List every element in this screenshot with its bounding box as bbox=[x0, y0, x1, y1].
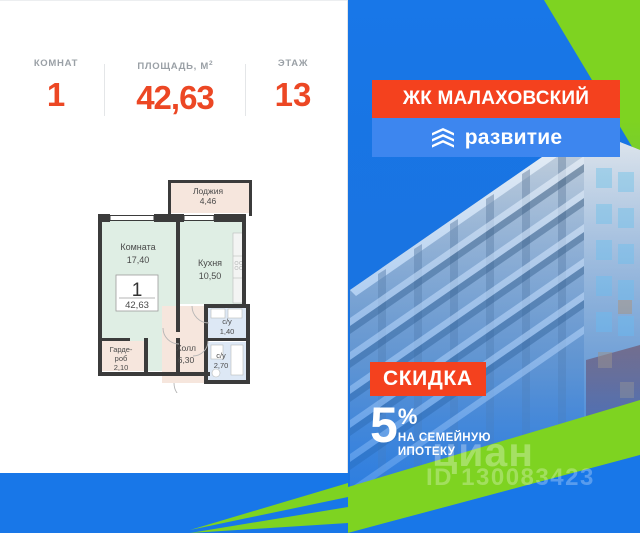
promo-title: СКИДКА bbox=[370, 362, 486, 396]
wall-loggia-right bbox=[249, 180, 252, 216]
wall-right-upper bbox=[242, 214, 246, 304]
stat-floor-label: ЭТАЖ bbox=[278, 58, 308, 70]
floorplan-svg: 1 42,63 Лоджия 4,46 Комната 17,40 Кухня … bbox=[88, 178, 288, 393]
kitchen-label: Кухня bbox=[198, 258, 222, 268]
brand-block: ЖК МАЛАХОВСКИЙ развитие bbox=[372, 80, 620, 157]
promo-panel: циан ID 130083423 ЖК МАЛАХОВСКИЙ развити… bbox=[348, 0, 640, 533]
floorplan-badge: 1 42,63 bbox=[116, 275, 158, 311]
wall-room-hall bbox=[176, 306, 180, 332]
bottom-blue-strip bbox=[0, 473, 348, 533]
promo-value-row: 5 % НА СЕМЕЙНУЮ ИПОТЕКУ bbox=[370, 404, 560, 459]
bathroom-2-area: 2,70 bbox=[214, 361, 229, 370]
stat-rooms-value: 1 bbox=[47, 78, 65, 111]
promo-subtitle: НА СЕМЕЙНУЮ ИПОТЕКУ bbox=[398, 432, 491, 459]
room-label: Комната bbox=[120, 242, 155, 252]
window-room bbox=[110, 216, 154, 221]
stat-area-label-text: ПЛОЩАДЬ, М bbox=[137, 61, 209, 72]
bottom-green-rays bbox=[0, 473, 348, 533]
stat-rooms-label: КОМНАТ bbox=[34, 58, 78, 70]
stats-header: КОМНАТ 1 ПЛОЩАДЬ, М2 42,63 ЭТАЖ 13 bbox=[0, 58, 348, 130]
wall-bath-mid bbox=[204, 338, 248, 341]
bathroom-1-label: с/у bbox=[222, 317, 232, 326]
hall-area: 6,30 bbox=[178, 355, 195, 365]
wardrobe-label-2: роб bbox=[115, 354, 128, 363]
wall-loggia-left bbox=[168, 180, 171, 216]
wardrobe-label-1: Гарде- bbox=[110, 345, 133, 354]
wardrobe-area: 2,10 bbox=[114, 363, 129, 372]
kitchen-area: 10,50 bbox=[199, 271, 222, 281]
wall-bath-top bbox=[204, 304, 248, 308]
promo-subtitle-line1: НА СЕМЕЙНУЮ bbox=[398, 432, 491, 446]
hall-label: Холл bbox=[176, 343, 196, 353]
loggia-area: 4,46 bbox=[200, 196, 217, 206]
promo-number: 5 bbox=[370, 404, 396, 447]
stat-rooms: КОМНАТ 1 bbox=[8, 58, 104, 111]
wall-loggia-top bbox=[168, 180, 252, 183]
developer-name: развитие bbox=[465, 127, 563, 148]
badge-area: 42,63 bbox=[125, 300, 149, 311]
developer-banner: развитие bbox=[372, 118, 620, 157]
wall-room-kitchen bbox=[176, 218, 180, 306]
wall-wardrobe-top bbox=[102, 338, 130, 341]
chevron-up-logo-icon bbox=[430, 126, 456, 148]
promo-percent: % bbox=[398, 406, 491, 428]
card-top-edge bbox=[0, 0, 348, 1]
bathroom-1-area: 1,40 bbox=[220, 327, 235, 336]
bathroom-2-label: с/у bbox=[216, 351, 226, 360]
wall-bottom-left bbox=[98, 372, 210, 376]
wall-bottom-right bbox=[206, 380, 250, 384]
wall-right-lower bbox=[246, 304, 250, 384]
stat-floor: ЭТАЖ 13 bbox=[246, 58, 340, 111]
listing-card: КОМНАТ 1 ПЛОЩАДЬ, М2 42,63 ЭТАЖ 13 bbox=[0, 0, 640, 533]
window-kitchen bbox=[184, 216, 214, 221]
stat-area-value: 42,63 bbox=[136, 81, 214, 114]
floorplan-card: КОМНАТ 1 ПЛОЩАДЬ, М2 42,63 ЭТАЖ 13 bbox=[0, 0, 348, 473]
loggia-label: Лоджия bbox=[193, 186, 224, 196]
complex-name-banner: ЖК МАЛАХОВСКИЙ bbox=[372, 80, 620, 118]
wall-wardrobe-right bbox=[144, 338, 148, 374]
wall-top-3 bbox=[214, 214, 246, 222]
door-entry bbox=[174, 383, 192, 393]
stat-floor-value: 13 bbox=[275, 78, 312, 111]
promo-detail: % НА СЕМЕЙНУЮ ИПОТЕКУ bbox=[398, 404, 491, 459]
bath-2-toilet bbox=[212, 369, 220, 377]
stat-area-label: ПЛОЩАДЬ, М2 bbox=[137, 58, 212, 73]
wall-left bbox=[98, 214, 102, 376]
stat-area-label-sup: 2 bbox=[209, 60, 213, 67]
room-area: 17,40 bbox=[127, 255, 150, 265]
floorplan-image: 1 42,63 Лоджия 4,46 Комната 17,40 Кухня … bbox=[0, 178, 348, 408]
promo-discount: СКИДКА 5 % НА СЕМЕЙНУЮ ИПОТЕКУ bbox=[370, 362, 560, 459]
bath-2-tub bbox=[231, 345, 243, 375]
stat-area: ПЛОЩАДЬ, М2 42,63 bbox=[105, 58, 245, 114]
promo-subtitle-line2: ИПОТЕКУ bbox=[398, 446, 491, 460]
